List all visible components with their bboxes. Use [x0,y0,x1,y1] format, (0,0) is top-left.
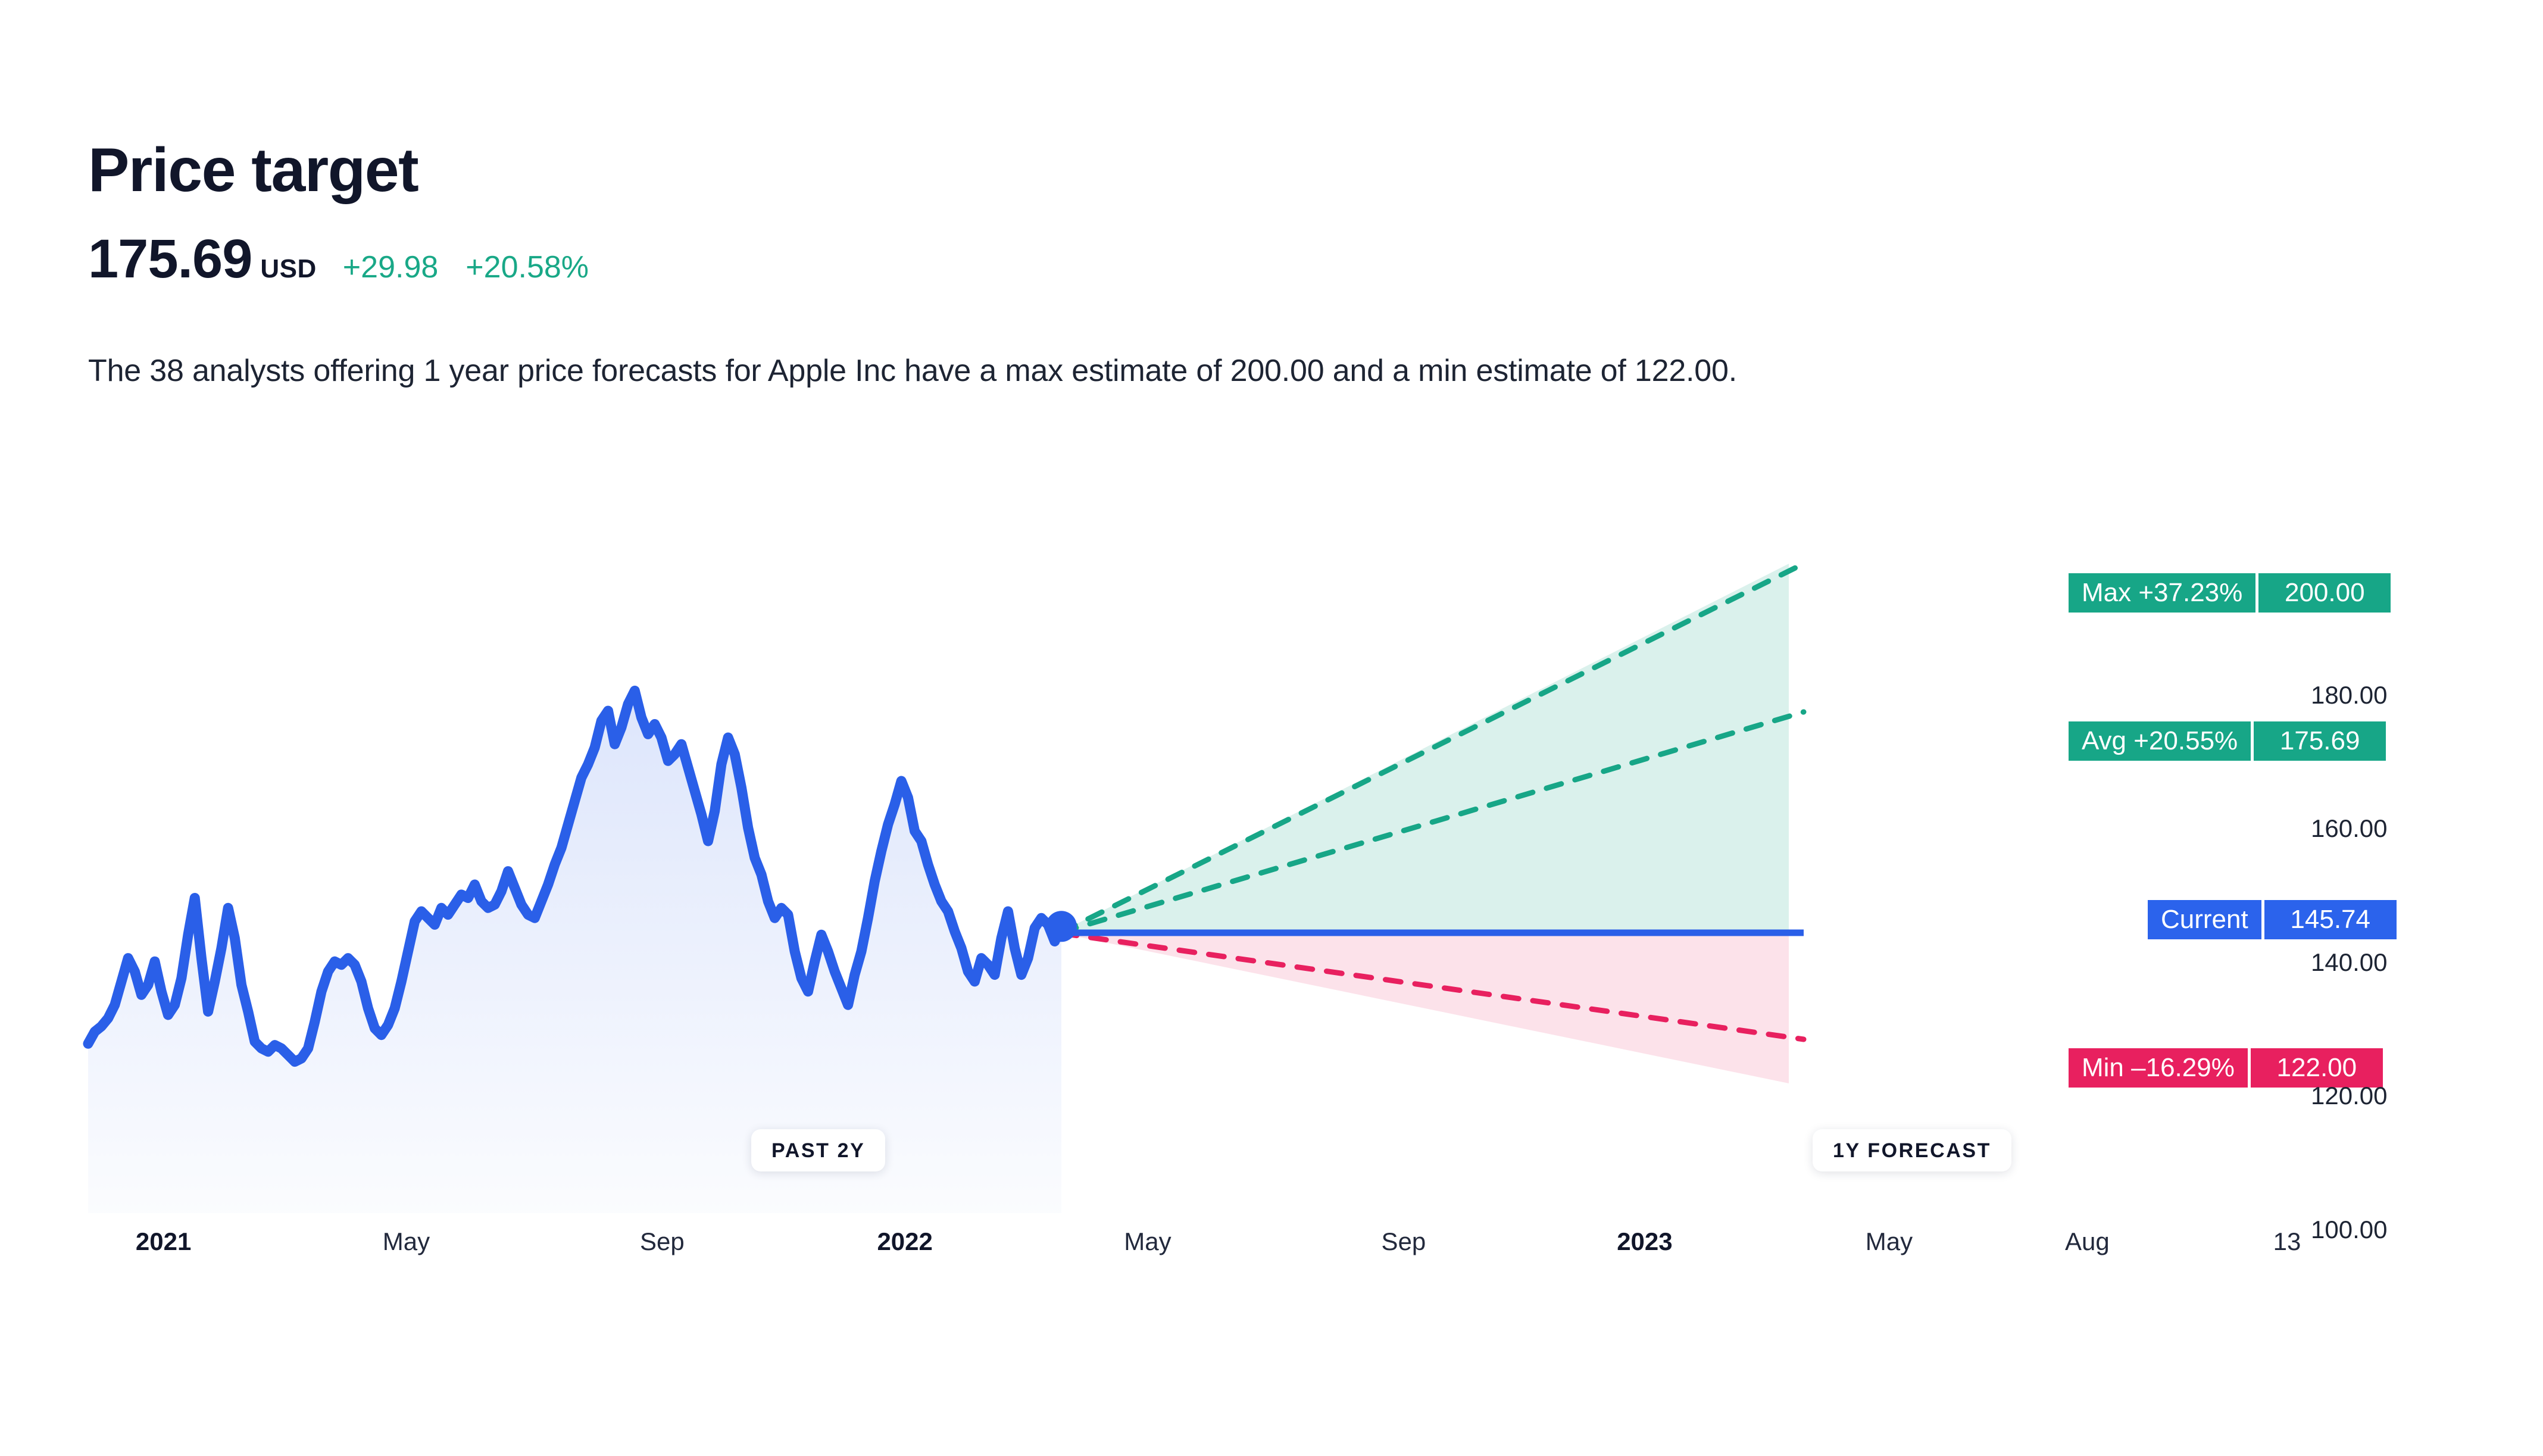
x-tick-may: May [1124,1227,1171,1256]
y-tick-180: 180.00 [2311,681,2387,710]
y-tick-100: 100.00 [2311,1216,2387,1244]
forecast-cone-downside [1061,933,1789,1083]
forecast-description: The 38 analysts offering 1 year price fo… [88,353,1737,389]
badge-max-value: 200.00 [2258,573,2391,613]
x-tick-sep: Sep [1382,1227,1426,1256]
price-value: 175.69 [88,228,252,290]
x-tick-sep: Sep [640,1227,685,1256]
y-tick-140: 140.00 [2311,948,2387,977]
badge-avg-label: Avg +20.55% [2069,721,2251,761]
badge-min-label: Min –16.29% [2069,1048,2248,1088]
x-tick-2022: 2022 [877,1227,932,1256]
x-tick-may: May [1866,1227,1913,1256]
y-tick-160: 160.00 [2311,814,2387,843]
price-change-absolute: +29.98 [343,249,439,285]
section-pill-past: PAST 2Y [751,1129,885,1171]
price-target-card: Price target 175.69 USD +29.98 +20.58% T… [0,0,2543,1456]
price-change-percent: +20.58% [466,249,589,285]
price-summary: 175.69 USD +29.98 +20.58% [88,228,589,290]
x-tick-may: May [383,1227,430,1256]
page-title: Price target [88,138,589,203]
badge-current-value: 145.74 [2264,900,2397,939]
x-tick-13: 13 [2273,1227,2301,1256]
header: Price target 175.69 USD +29.98 +20.58% [88,138,589,290]
badge-avg[interactable]: Avg +20.55% 175.69 [2069,721,2386,761]
x-tick-aug: Aug [2065,1227,2110,1256]
badge-avg-value: 175.69 [2254,721,2386,761]
section-pill-forecast: 1Y FORECAST [1813,1129,2011,1171]
badge-current-label: Current [2148,900,2261,939]
price-currency: USD [260,254,316,284]
badge-max-label: Max +37.23% [2069,573,2255,613]
current-price-marker[interactable] [1046,911,1077,942]
x-tick-2021: 2021 [136,1227,191,1256]
y-tick-120: 120.00 [2311,1082,2387,1110]
badge-current[interactable]: Current 145.74 [2148,900,2397,939]
badge-max[interactable]: Max +37.23% 200.00 [2069,573,2391,613]
x-tick-2023: 2023 [1617,1227,1672,1256]
